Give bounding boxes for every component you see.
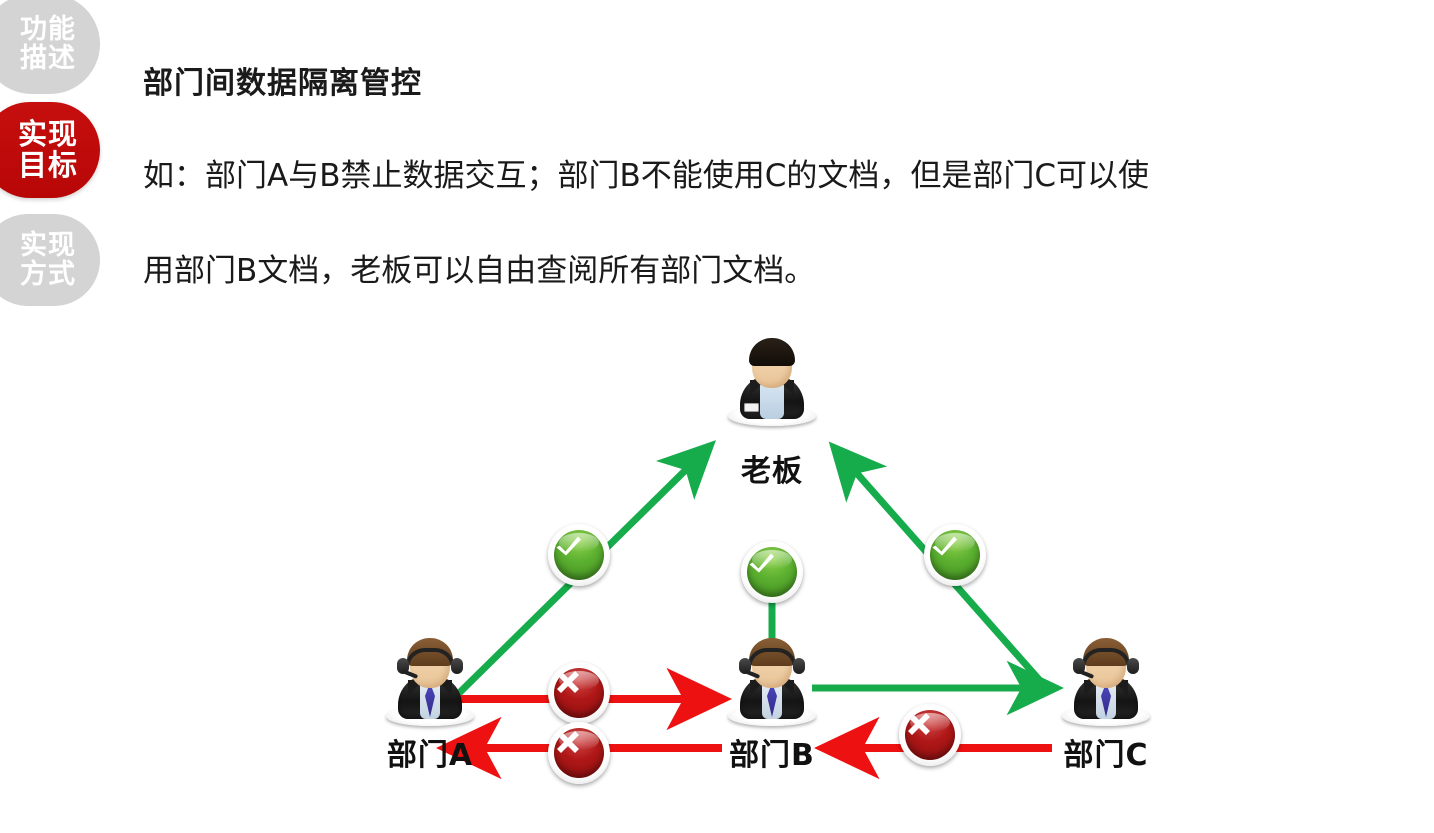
sidebar-item-function-description[interactable]: 功能 描述 [0,0,100,94]
sidebar-item-label-line: 实现 [18,119,78,150]
diagram-node-label: 老板 [724,446,820,490]
body-paragraph-line: 如：部门A与B禁止数据交互；部门B不能使用C的文档，但是部门C可以使 [143,150,1149,195]
body-paragraph-line: 用部门B文档，老板可以自由查阅所有部门文档。 [143,245,815,290]
diagram-node-dept-c[interactable]: 部门C [1058,632,1154,774]
diagram-node-label: 部门A [382,730,478,774]
diagram-node-label: 部门B [724,730,820,774]
diagram-node-dept-b[interactable]: 部门B [724,632,820,774]
diagram-node-dept-a[interactable]: 部门A [382,632,478,774]
sidebar-item-label-line: 方式 [20,260,76,289]
permission-diagram: 老板 部门A [0,300,1434,833]
department-avatar-icon [382,632,478,728]
deny-cross-icon [548,662,610,724]
sidebar-item-label-line: 描述 [20,44,76,73]
page-title: 部门间数据隔离管控 [143,58,422,102]
deny-cross-icon [548,722,610,784]
diagram-edges [0,300,1434,833]
deny-cross-icon [899,704,961,766]
department-avatar-icon [1058,632,1154,728]
sidebar-item-implementation-goal[interactable]: 实现 目标 [0,102,100,198]
sidebar: 功能 描述 实现 目标 实现 方式 [0,0,120,300]
sidebar-item-implementation-method[interactable]: 实现 方式 [0,214,100,306]
sidebar-item-label-line: 目标 [18,150,78,181]
diagram-node-label: 部门C [1058,730,1154,774]
allow-check-icon [741,541,803,603]
allow-check-icon [924,524,986,586]
allow-check-icon [548,524,610,586]
sidebar-item-label-line: 功能 [20,15,76,44]
boss-avatar-icon [724,332,820,428]
sidebar-item-label-line: 实现 [20,231,76,260]
department-avatar-icon [724,632,820,728]
diagram-node-boss[interactable]: 老板 [724,332,820,490]
